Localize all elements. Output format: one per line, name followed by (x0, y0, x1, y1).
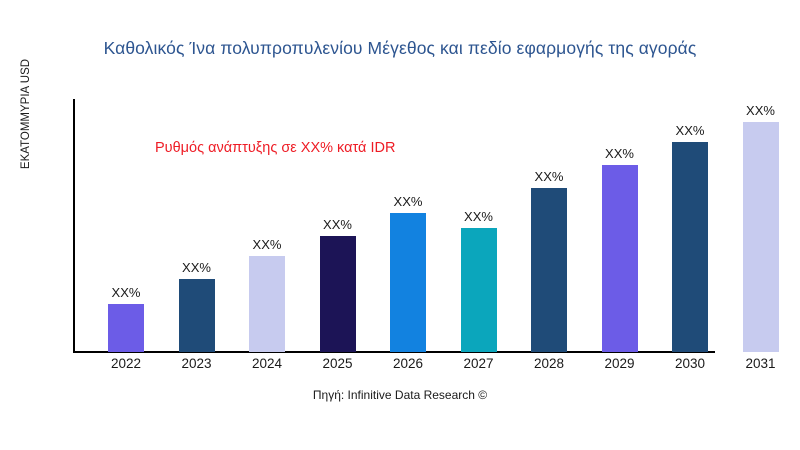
x-axis-tick-label: 2030 (655, 356, 725, 371)
bar-value-label: XX% (676, 123, 705, 138)
bar-value-label: XX% (112, 285, 141, 300)
bar-group: XX% (672, 99, 708, 352)
bar-value-label: XX% (746, 103, 775, 118)
x-axis-tick-label: 2028 (514, 356, 584, 371)
bar-group: XX% (743, 99, 779, 352)
x-axis-tick-label: 2022 (91, 356, 161, 371)
bar-group: XX% (602, 99, 638, 352)
x-axis-tick-label: 2026 (373, 356, 443, 371)
bar-group: XX% (179, 99, 215, 352)
x-axis-tick-label: 2025 (303, 356, 373, 371)
bar[interactable] (390, 213, 426, 352)
bar[interactable] (531, 188, 567, 352)
x-axis-tick-label: 2023 (162, 356, 232, 371)
x-axis-tick-labels: 2022202320242025202620272028202920302031 (73, 356, 780, 380)
x-axis-tick-label: 2029 (585, 356, 655, 371)
bar-value-label: XX% (323, 217, 352, 232)
bar-value-label: XX% (394, 194, 423, 209)
bar-group: XX% (390, 99, 426, 352)
bar[interactable] (179, 279, 215, 352)
x-axis-tick-label: 2024 (232, 356, 302, 371)
x-axis-tick-label: 2027 (444, 356, 514, 371)
x-axis-tick-label: 2031 (726, 356, 796, 371)
bar[interactable] (602, 165, 638, 352)
bar-series: XX%XX%XX%XX%XX%XX%XX%XX%XX%XX% (73, 99, 780, 352)
y-axis-label: ΕΚΑΤΟΜΜΥΡΙΑ USD (20, 0, 32, 244)
bar[interactable] (672, 142, 708, 352)
chart-title: Καθολικός Ίνα πολυπροπυλενίου Μέγεθος κα… (0, 38, 800, 59)
bar[interactable] (320, 236, 356, 352)
bar[interactable] (249, 256, 285, 352)
bar-value-label: XX% (464, 209, 493, 224)
chart-canvas: Καθολικός Ίνα πολυπροπυλενίου Μέγεθος κα… (0, 0, 800, 450)
source-note: Πηγή: Infinitive Data Research © (0, 388, 800, 402)
bar-group: XX% (108, 99, 144, 352)
bar[interactable] (743, 122, 779, 352)
bar-group: XX% (531, 99, 567, 352)
bar-group: XX% (320, 99, 356, 352)
bar-value-label: XX% (182, 260, 211, 275)
bar[interactable] (108, 304, 144, 352)
bar-group: XX% (461, 99, 497, 352)
bar[interactable] (461, 228, 497, 352)
bar-value-label: XX% (253, 237, 282, 252)
bar-group: XX% (249, 99, 285, 352)
bar-value-label: XX% (535, 169, 564, 184)
bar-value-label: XX% (605, 146, 634, 161)
